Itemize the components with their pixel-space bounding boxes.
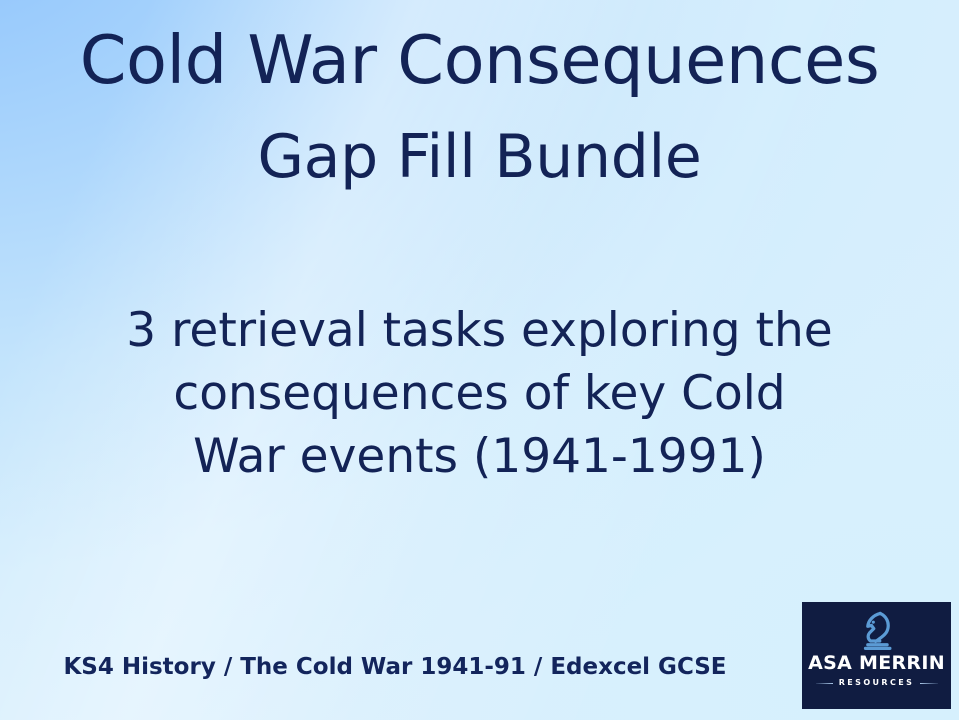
logo-rule-right: [920, 683, 937, 684]
logo-rule-left: [816, 683, 833, 684]
slide-title: Cold War Consequences: [0, 26, 959, 96]
body-line: 3 retrieval tasks exploring the: [30, 300, 929, 363]
logo-subtext: RESOURCES: [839, 679, 915, 687]
slide-content: Cold War Consequences Gap Fill Bundle 3 …: [0, 0, 959, 720]
body-line: consequences of key Cold: [30, 363, 929, 426]
publisher-logo: ASA MERRIN RESOURCES: [802, 602, 951, 709]
chess-knight-icon: [854, 607, 900, 653]
knight-eye-icon: [871, 621, 874, 624]
footer-caption: KS4 History / The Cold War 1941-91 / Ede…: [0, 654, 790, 680]
body-line: War events (1941-1991): [30, 426, 929, 489]
logo-wordmark: ASA MERRIN: [808, 654, 945, 673]
logo-subtext-row: RESOURCES: [816, 679, 938, 687]
slide-canvas: Cold War Consequences Gap Fill Bundle 3 …: [0, 0, 959, 720]
slide-subtitle: Gap Fill Bundle: [0, 124, 959, 190]
body-text-block: 3 retrieval tasks exploring the conseque…: [30, 300, 929, 489]
title-block: Cold War Consequences Gap Fill Bundle: [0, 26, 959, 190]
